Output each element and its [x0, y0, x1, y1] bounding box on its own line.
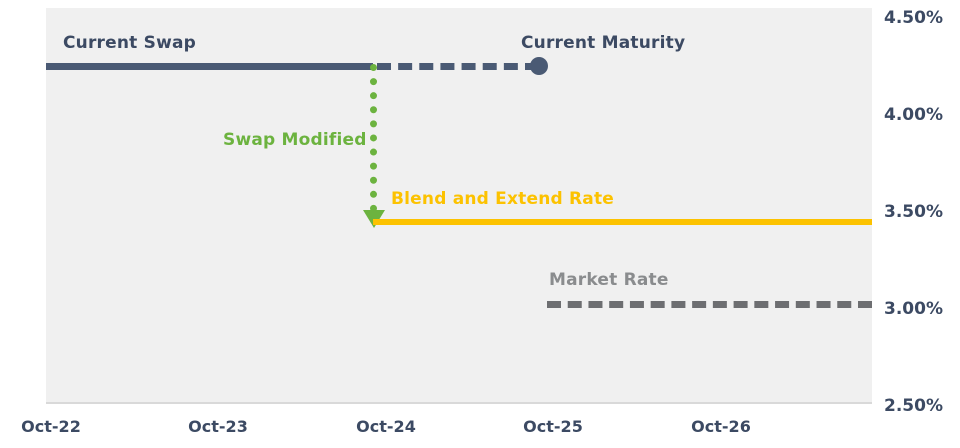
x-axis-tick-oct-25: Oct-25 [523, 417, 583, 436]
blend-and-extend-rate-chart: Current Swap Current Maturity Swap Modif… [0, 0, 960, 448]
series-line-current-swap [46, 63, 373, 70]
current-maturity-marker-dot [530, 57, 548, 75]
series-label-blend-and-extend-rate: Blend and Extend Rate [391, 189, 614, 209]
x-axis-tick-oct-22: Oct-22 [21, 417, 81, 436]
y-axis-tick-350: 3.50% [884, 202, 943, 222]
series-label-swap-modified: Swap Modified [223, 130, 367, 150]
series-line-market-rate [547, 301, 872, 308]
x-axis-line [46, 402, 872, 404]
series-line-blend-and-extend-rate [373, 219, 872, 225]
series-label-current-swap: Current Swap [63, 33, 196, 53]
y-axis-tick-400: 4.00% [884, 105, 943, 125]
x-axis-tick-oct-26: Oct-26 [691, 417, 751, 436]
y-axis-tick-300: 3.00% [884, 299, 943, 319]
y-axis-tick-250: 2.50% [884, 396, 943, 416]
y-axis-tick-450: 4.50% [884, 8, 943, 28]
series-label-market-rate: Market Rate [549, 270, 669, 290]
series-label-current-maturity: Current Maturity [521, 33, 685, 53]
x-axis-tick-oct-23: Oct-23 [188, 417, 248, 436]
series-line-swap-modified [370, 64, 377, 212]
series-line-current-maturity [377, 63, 539, 70]
x-axis-tick-oct-24: Oct-24 [356, 417, 416, 436]
